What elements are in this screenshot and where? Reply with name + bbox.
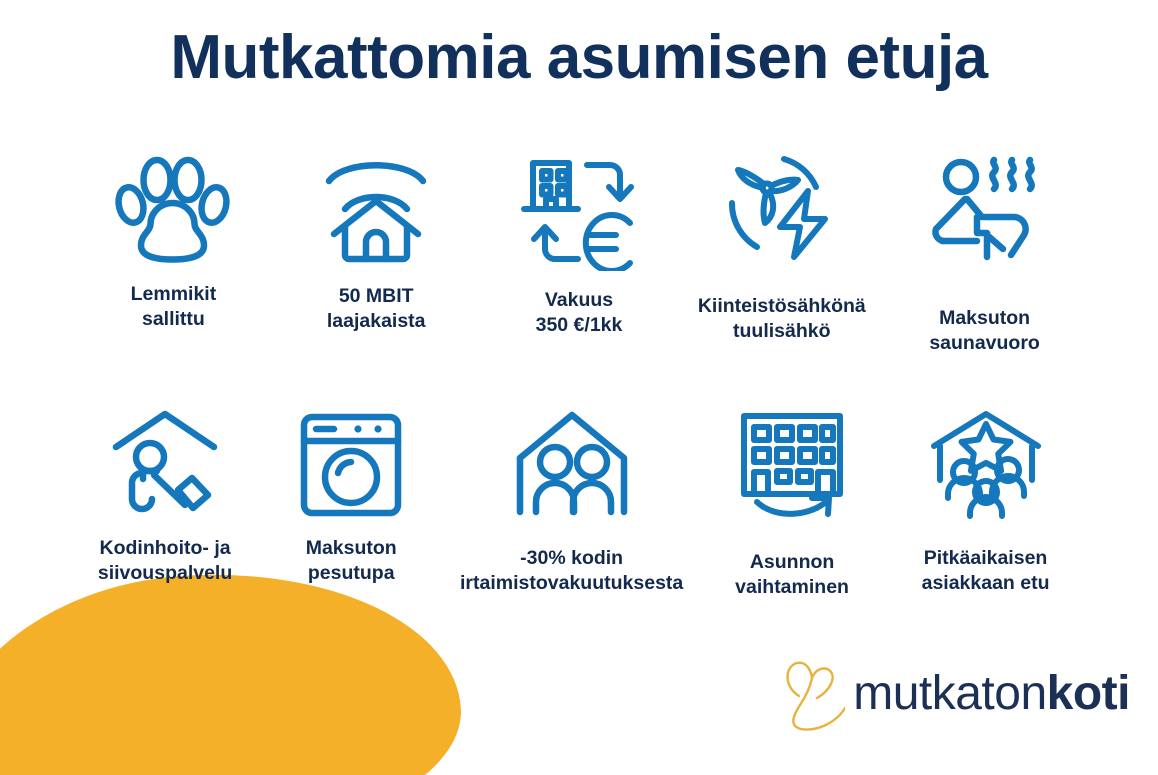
benefit-label: Pitkäaikaisen asiakkaan etu — [922, 546, 1050, 596]
wifi-house-icon — [321, 150, 431, 268]
benefit-item-apartment-swap[interactable]: Asunnon vaihtaminen — [699, 406, 885, 600]
benefits-row-2: Kodinhoito- ja siivouspalvelu — [72, 406, 1086, 600]
benefit-item-wind-power[interactable]: Kiinteistösähkönä tuulisähkö — [680, 150, 883, 344]
house-two-people-icon — [514, 406, 630, 524]
sauna-person-steam-icon — [924, 150, 1046, 268]
benefit-label: Kodinhoito- ja siivouspalvelu — [98, 536, 232, 586]
heart-swoosh-icon — [779, 650, 845, 737]
benefits-row-1: Lemmikit sallittu 50 MBIT laa — [72, 150, 1086, 356]
wind-turbine-bolt-icon — [722, 150, 842, 268]
page-title: Mutkattomia asumisen etuja — [0, 22, 1158, 93]
benefit-label: Kiinteistösähkönä tuulisähkö — [698, 294, 866, 344]
roof-star-people-icon — [928, 406, 1044, 524]
cleaning-person-roof-icon — [110, 406, 220, 524]
paw-print-icon — [114, 150, 232, 268]
benefit-label: -30% kodin irtaimistovakuutuksesta — [460, 546, 683, 596]
building-euro-exchange-icon — [517, 150, 641, 274]
logo-word-bold: koti — [1047, 667, 1130, 720]
apartment-swap-arrow-icon — [736, 406, 848, 524]
benefit-label: Vakuus 350 €/1kk — [536, 288, 623, 338]
benefit-item-insurance[interactable]: -30% kodin irtaimistovakuutuksesta — [444, 406, 699, 596]
brand-logo[interactable]: mutkatonkoti — [779, 650, 1130, 737]
benefit-item-loyalty[interactable]: Pitkäaikaisen asiakkaan etu — [885, 406, 1086, 596]
logo-wordmark: mutkatonkoti — [853, 670, 1130, 718]
benefit-item-deposit[interactable]: Vakuus 350 €/1kk — [478, 150, 681, 338]
logo-word-light: mutkaton — [853, 667, 1046, 720]
benefits-grid: Lemmikit sallittu 50 MBIT laa — [72, 150, 1086, 600]
benefit-label: Asunnon vaihtaminen — [735, 550, 849, 600]
benefit-item-cleaning[interactable]: Kodinhoito- ja siivouspalvelu — [72, 406, 258, 586]
benefit-label: Lemmikit sallittu — [131, 282, 217, 332]
benefit-label: Maksuton saunavuoro — [883, 306, 1086, 356]
benefit-item-laundry[interactable]: Maksuton pesutupa — [258, 406, 444, 586]
benefit-item-pets[interactable]: Lemmikit sallittu — [72, 150, 275, 332]
benefit-item-broadband[interactable]: 50 MBIT laajakaista — [275, 150, 478, 334]
washing-machine-icon — [298, 406, 404, 524]
benefit-item-sauna[interactable]: Maksuton saunavuoro — [883, 150, 1086, 356]
benefit-label: 50 MBIT laajakaista — [327, 284, 426, 334]
benefit-label: Maksuton pesutupa — [306, 536, 397, 586]
slide-canvas: Mutkattomia asumisen etuja — [0, 0, 1158, 775]
